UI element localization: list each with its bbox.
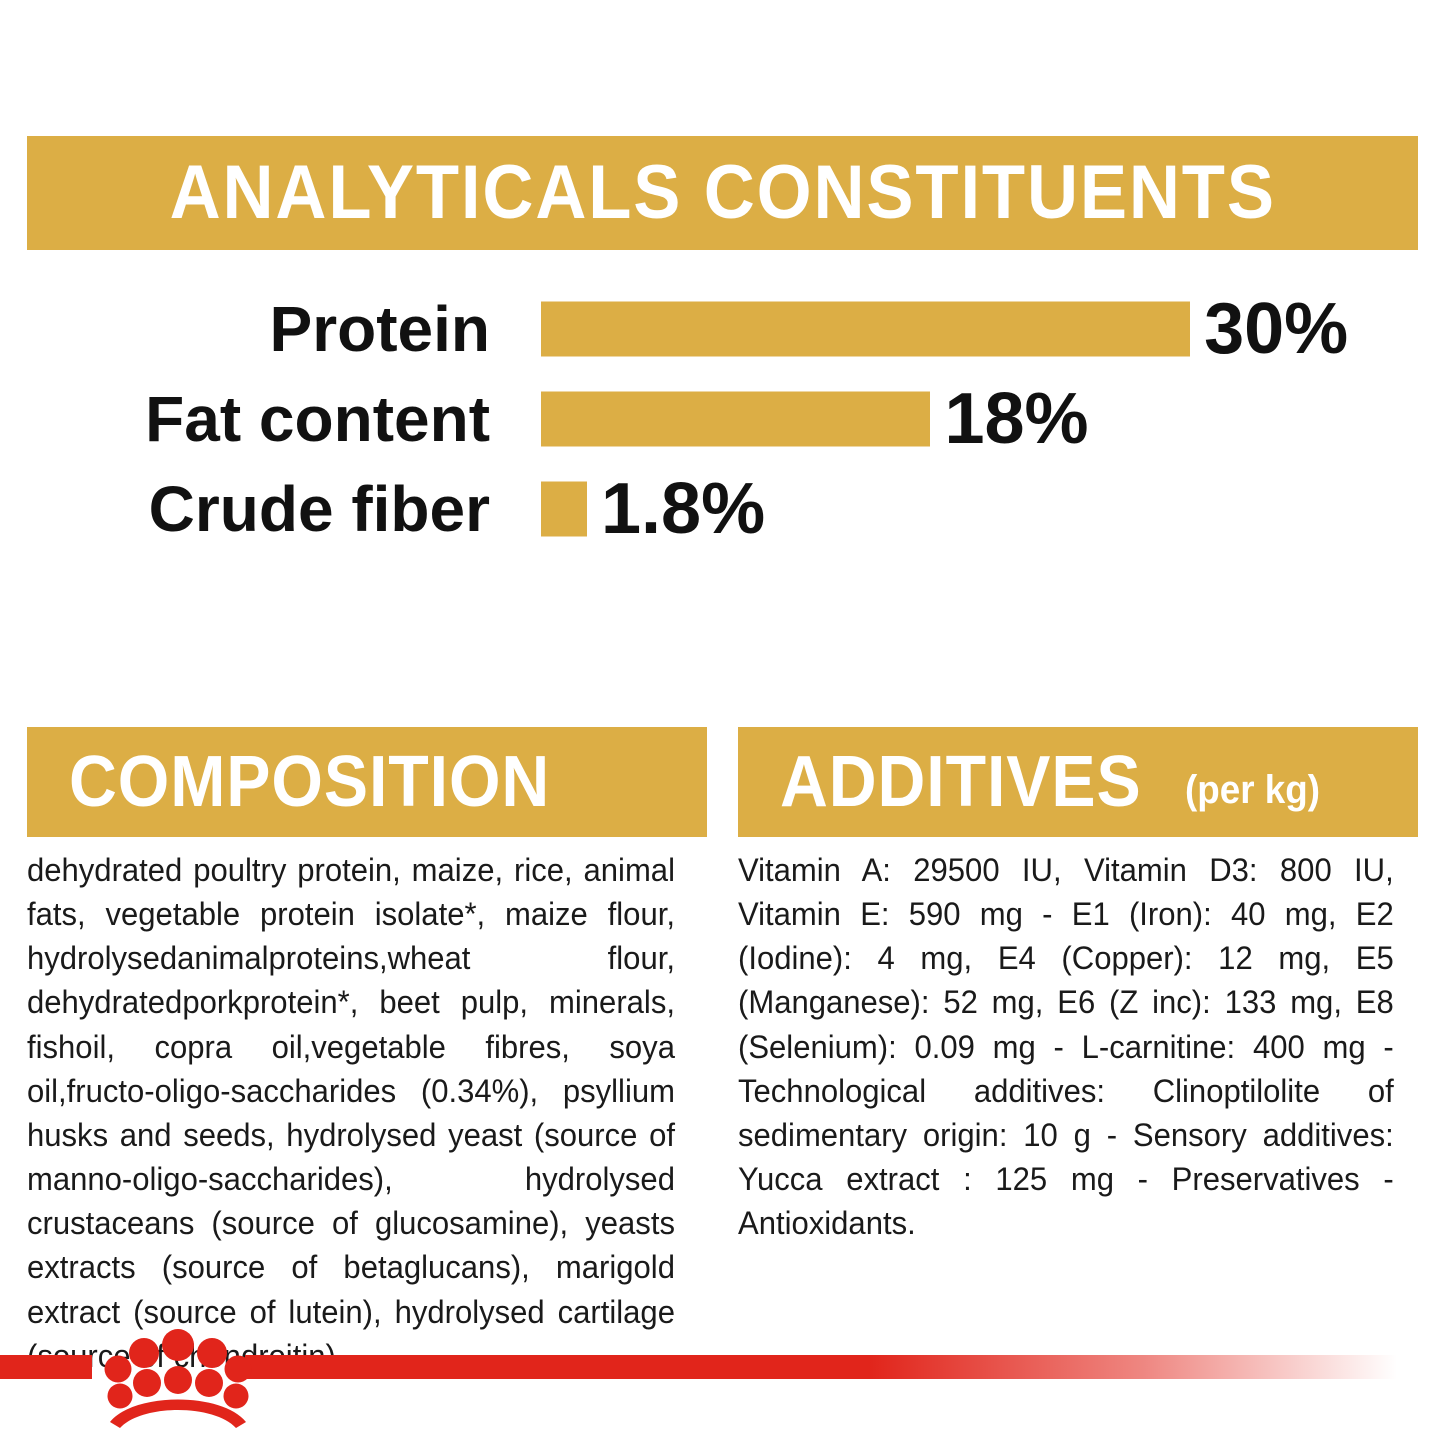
additives-subheading: (per kg): [1185, 770, 1320, 810]
chart-value-crude-fiber: 1.8%: [601, 473, 765, 545]
chart-label-fat-content: Fat content: [60, 387, 490, 451]
analyticals-constituents-banner: ANALYTICALS CONSTITUENTS: [27, 136, 1418, 250]
chart-row: Fat content 18%: [0, 376, 1445, 462]
composition-heading: COMPOSITION: [69, 746, 550, 818]
chart-value-protein: 30%: [1204, 293, 1348, 365]
chart-label-crude-fiber: Crude fiber: [60, 477, 490, 541]
nutrition-panel: ANALYTICALS CONSTITUENTS Protein 30% Fat…: [0, 0, 1445, 1445]
banner-title: ANALYTICALS CONSTITUENTS: [169, 155, 1275, 231]
composition-header: COMPOSITION: [27, 727, 707, 837]
analytical-constituents-chart: Protein 30% Fat content 18% Crude fiber …: [0, 286, 1445, 551]
footer: [0, 1330, 1445, 1445]
royal-canin-crown-icon: [104, 1322, 252, 1430]
footer-rule-left: [0, 1355, 92, 1379]
additives-heading: ADDITIVES: [780, 746, 1142, 818]
chart-bar-protein: [541, 302, 1190, 357]
chart-value-fat-content: 18%: [944, 383, 1088, 455]
composition-text: dehydrated poultry protein, maize, rice,…: [27, 848, 675, 1378]
additives-header: ADDITIVES (per kg): [738, 727, 1418, 837]
additives-text: Vitamin A: 29500 IU, Vitamin D3: 800 IU,…: [738, 848, 1394, 1245]
chart-row: Crude fiber 1.8%: [0, 466, 1445, 552]
footer-rule-right: [245, 1355, 1445, 1379]
chart-bar-crude-fiber: [541, 482, 587, 537]
chart-label-protein: Protein: [60, 297, 490, 361]
chart-row: Protein 30%: [0, 286, 1445, 372]
chart-bar-fat-content: [541, 392, 930, 447]
